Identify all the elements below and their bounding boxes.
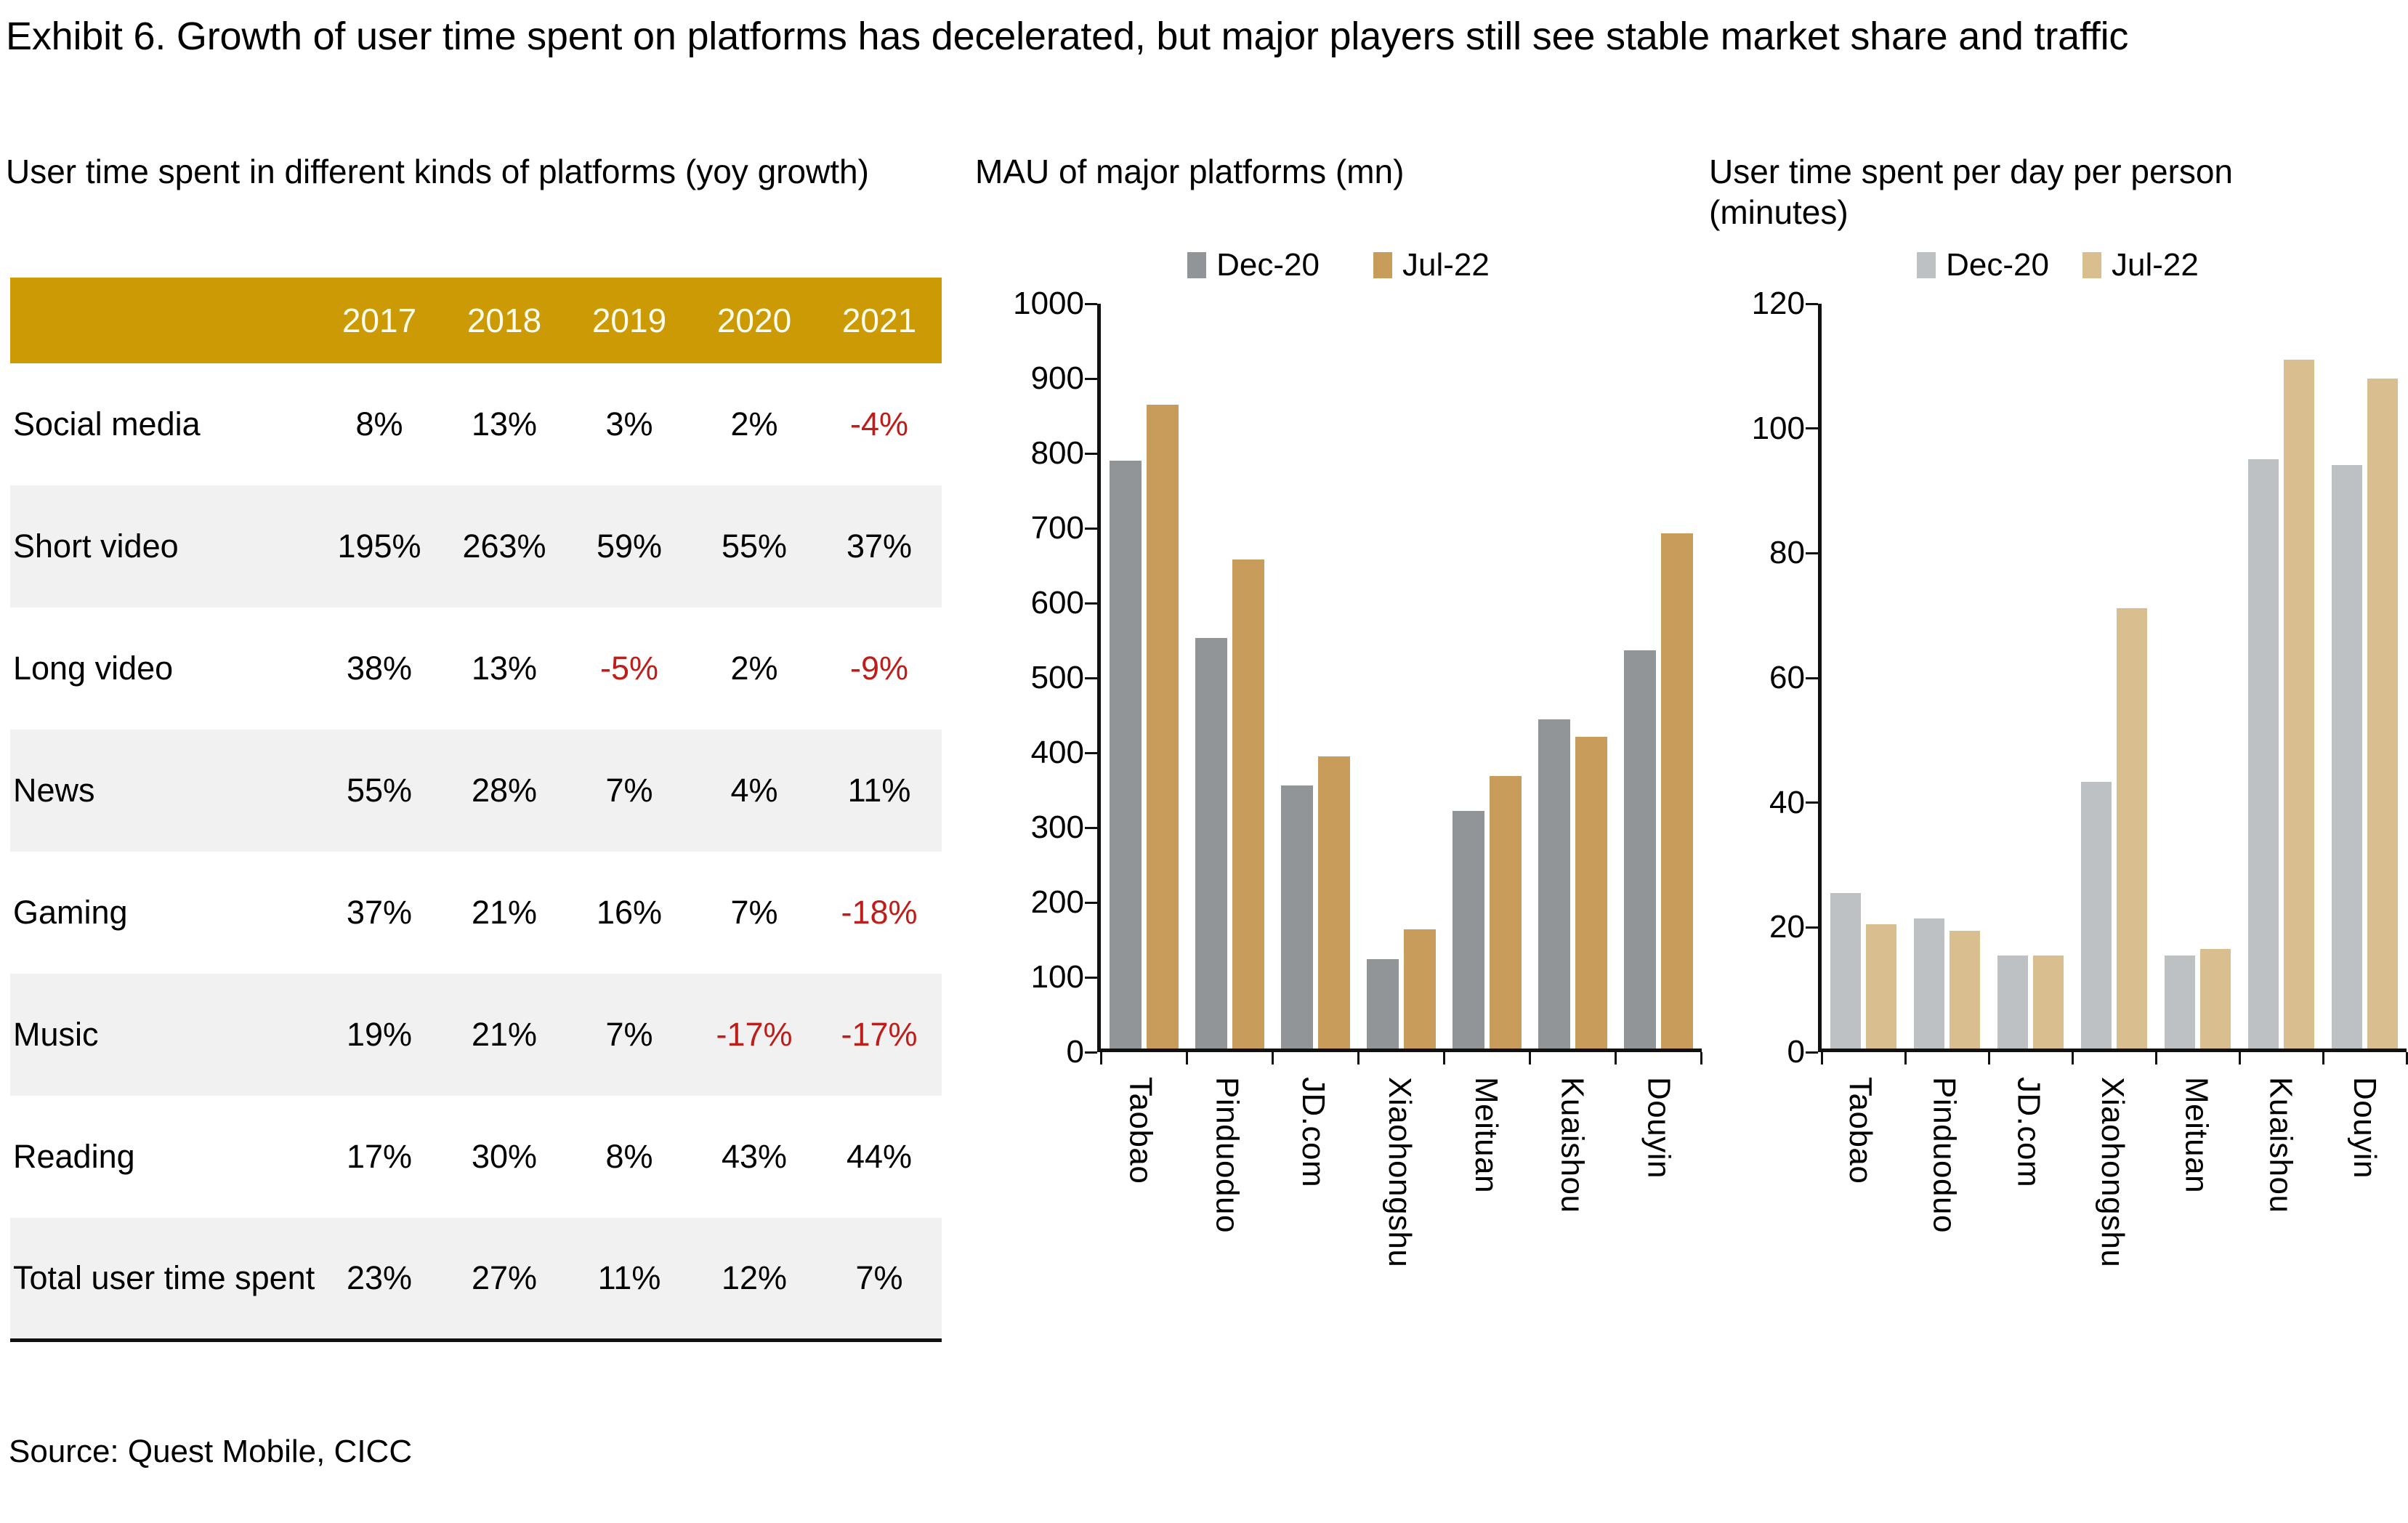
row-value-2021: -9% — [817, 607, 942, 730]
mau-bar-dec-20 — [1281, 785, 1313, 1049]
row-value-2021: 7% — [817, 1218, 942, 1340]
row-value-2019: -5% — [567, 607, 692, 730]
time-x-label-cell: Kuaishou — [2239, 1052, 2323, 1357]
mau-plot-row: 01002003004005006007008009001000 — [975, 304, 1702, 1052]
time-legend-item-jul22: Jul-22 — [2082, 247, 2199, 283]
negative-value: -17% — [716, 1016, 792, 1053]
mau-x-label-cell: Pinduoduo — [1184, 1052, 1270, 1357]
growth-table-body: Social media8%13%3%2%-4%Short video195%2… — [10, 363, 942, 1340]
row-value-2019: 59% — [567, 485, 692, 607]
mau-x-label-cell: Xiaohongshu — [1357, 1052, 1443, 1357]
time-bar-dec-20 — [2165, 956, 2195, 1049]
row-value-2018: 13% — [442, 607, 567, 730]
row-value-2019: 3% — [567, 363, 692, 485]
mau-y-tick-label: 0 — [1067, 1034, 1084, 1070]
mau-bar-jul-22 — [1147, 405, 1179, 1049]
row-value-2017: 19% — [317, 974, 442, 1096]
row-value-2020: 2% — [692, 607, 817, 730]
mau-x-tick — [1700, 1052, 1702, 1065]
mau-bar-dec-20 — [1453, 811, 1484, 1049]
time-x-label: Pinduoduo — [1926, 1077, 1963, 1233]
time-y-tick-label: 40 — [1769, 785, 1805, 821]
time-bar-dec-20 — [1997, 956, 2028, 1049]
row-label: Total user time spent — [10, 1218, 317, 1340]
time-y-tick-mark — [1806, 552, 1818, 554]
mau-bar-jul-22 — [1575, 737, 1607, 1049]
time-y-tick-mark — [1806, 801, 1818, 804]
mau-bar-group — [1272, 304, 1358, 1049]
negative-value: -5% — [600, 650, 658, 687]
mau-y-tick-label: 100 — [1031, 959, 1084, 995]
time-y-tick-mark — [1806, 926, 1818, 929]
time-x-label: Xiaohongshu — [2094, 1077, 2130, 1267]
time-x-tick — [1988, 1052, 1990, 1065]
time-x-tick — [2155, 1052, 2157, 1065]
mau-x-label: Meituan — [1468, 1077, 1504, 1193]
negative-value: -17% — [841, 1016, 917, 1053]
square-swatch-icon — [1373, 252, 1392, 278]
row-value-2020: 43% — [692, 1096, 817, 1218]
table-row: Social media8%13%3%2%-4% — [10, 363, 942, 485]
mau-legend-item-dec20: Dec-20 — [1187, 247, 1320, 283]
time-bar-jul-22 — [1950, 931, 1980, 1049]
exhibit-title: Exhibit 6. Growth of user time spent on … — [6, 13, 2251, 60]
mau-chart-panel: Dec-20 Jul-22 01002003004005006007008009… — [975, 240, 1702, 1388]
row-value-2021: -18% — [817, 852, 942, 974]
time-plot-area — [1818, 304, 2407, 1052]
row-label: Social media — [10, 363, 317, 485]
mau-legend-item-jul22: Jul-22 — [1373, 247, 1490, 283]
table-header-row: 2017 2018 2019 2020 2021 — [10, 278, 942, 363]
time-chart-panel: Dec-20 Jul-22 020406080100120 TaobaoPind… — [1709, 240, 2407, 1388]
row-value-2017: 38% — [317, 607, 442, 730]
exhibit-page: Exhibit 6. Growth of user time spent on … — [0, 0, 2408, 1523]
mau-y-tick-label: 400 — [1031, 735, 1084, 771]
mau-y-tick-mark — [1085, 303, 1097, 305]
table-row: News55%28%7%4%11% — [10, 730, 942, 852]
square-swatch-icon — [1917, 252, 1936, 278]
mau-y-tick-mark — [1085, 752, 1097, 754]
mau-x-tick — [1357, 1052, 1359, 1065]
header-cell-2018: 2018 — [442, 278, 567, 363]
mau-bar-group-container — [1101, 304, 1702, 1049]
mau-y-axis: 01002003004005006007008009001000 — [975, 304, 1097, 1052]
time-chart-heading: User time spent per day per person (minu… — [1709, 151, 2290, 233]
table-row: Gaming37%21%16%7%-18% — [10, 852, 942, 974]
mau-x-tick — [1529, 1052, 1531, 1065]
row-value-2021: -4% — [817, 363, 942, 485]
row-value-2019: 8% — [567, 1096, 692, 1218]
time-x-tick — [2322, 1052, 2324, 1065]
time-plot-row: 020406080100120 — [1709, 304, 2407, 1052]
time-legend: Dec-20 Jul-22 — [1709, 240, 2407, 291]
negative-value: -18% — [841, 894, 917, 931]
time-legend-label-jul22: Jul-22 — [2112, 247, 2199, 283]
negative-value: -4% — [850, 405, 908, 443]
mau-bar-group — [1616, 304, 1702, 1049]
time-x-axis-labels: TaobaoPinduoduoJD.comXiaohongshuMeituanK… — [1818, 1052, 2407, 1357]
time-y-tick-label: 60 — [1769, 660, 1805, 696]
time-bar-dec-20 — [2081, 782, 2112, 1049]
mau-y-tick-label: 700 — [1031, 510, 1084, 546]
row-value-2020: 2% — [692, 363, 817, 485]
mau-x-tick — [1100, 1052, 1102, 1065]
table-panel-heading: User time spent in different kinds of pl… — [6, 151, 907, 192]
time-bar-group — [1989, 304, 2072, 1049]
mau-bar-jul-22 — [1318, 756, 1350, 1049]
time-x-label-cell: Pinduoduo — [1902, 1052, 1987, 1357]
mau-bar-group — [1358, 304, 1444, 1049]
time-x-label-cell: Xiaohongshu — [2070, 1052, 2154, 1357]
row-value-2017: 8% — [317, 363, 442, 485]
mau-x-label-cell: JD.com — [1270, 1052, 1357, 1357]
table-row: Long video38%13%-5%2%-9% — [10, 607, 942, 730]
row-value-2020: 55% — [692, 485, 817, 607]
time-x-label-cell: Meituan — [2154, 1052, 2239, 1357]
time-y-tick-mark — [1806, 1051, 1818, 1054]
mau-y-tick-mark — [1085, 977, 1097, 979]
mau-x-label: Taobao — [1122, 1077, 1158, 1184]
row-value-2020: 4% — [692, 730, 817, 852]
time-bar-group — [2072, 304, 2156, 1049]
mau-y-tick-mark — [1085, 902, 1097, 904]
time-bar-group — [2156, 304, 2239, 1049]
row-value-2018: 21% — [442, 852, 567, 974]
time-y-axis: 020406080100120 — [1709, 304, 1818, 1052]
row-value-2017: 195% — [317, 485, 442, 607]
row-value-2018: 27% — [442, 1218, 567, 1340]
square-swatch-icon — [1187, 252, 1206, 278]
time-legend-label-dec20: Dec-20 — [1946, 247, 2049, 283]
header-cell-2020: 2020 — [692, 278, 817, 363]
time-x-label: Douyin — [2346, 1077, 2383, 1179]
row-value-2020: 7% — [692, 852, 817, 974]
table-row: Reading17%30%8%43%44% — [10, 1096, 942, 1218]
time-x-tick — [2239, 1052, 2241, 1065]
mau-plot-area — [1097, 304, 1702, 1052]
table-row: Music19%21%7%-17%-17% — [10, 974, 942, 1096]
mau-x-label: JD.com — [1295, 1077, 1331, 1187]
table-row: Total user time spent23%27%11%12%7% — [10, 1218, 942, 1340]
time-bar-group — [1905, 304, 1989, 1049]
time-bar-group — [1822, 304, 1905, 1049]
mau-x-label: Kuaishou — [1554, 1077, 1591, 1213]
time-bar-group — [2323, 304, 2407, 1049]
mau-x-label-cell: Kuaishou — [1529, 1052, 1615, 1357]
time-bar-dec-20 — [1914, 918, 1944, 1049]
table-row: Short video195%263%59%55%37% — [10, 485, 942, 607]
time-bar-jul-22 — [1866, 924, 1896, 1049]
mau-bar-dec-20 — [1624, 650, 1656, 1049]
time-bar-dec-20 — [2248, 459, 2279, 1049]
mau-y-tick-mark — [1085, 602, 1097, 605]
row-value-2019: 16% — [567, 852, 692, 974]
mau-x-label: Douyin — [1641, 1077, 1677, 1179]
row-value-2019: 7% — [567, 974, 692, 1096]
growth-table-head: 2017 2018 2019 2020 2021 — [10, 278, 942, 363]
mau-legend: Dec-20 Jul-22 — [975, 240, 1702, 291]
mau-bar-group — [1101, 304, 1187, 1049]
mau-bar-jul-22 — [1404, 929, 1436, 1049]
mau-y-tick-mark — [1085, 827, 1097, 829]
row-value-2021: 37% — [817, 485, 942, 607]
growth-table-wrapper: 2017 2018 2019 2020 2021 Social media8%1… — [10, 278, 942, 1342]
mau-y-tick-label: 500 — [1031, 660, 1084, 696]
mau-x-label-cell: Meituan — [1442, 1052, 1529, 1357]
time-bar-dec-20 — [1830, 893, 1861, 1049]
mau-y-tick-label: 1000 — [1013, 286, 1084, 322]
row-label: Music — [10, 974, 317, 1096]
mau-x-tick — [1615, 1052, 1617, 1065]
time-x-tick — [2072, 1052, 2074, 1065]
mau-bar-jul-22 — [1490, 776, 1522, 1049]
mau-x-label: Pinduoduo — [1208, 1077, 1245, 1233]
time-x-label: Meituan — [2178, 1077, 2215, 1193]
mau-x-tick — [1443, 1052, 1445, 1065]
row-value-2018: 21% — [442, 974, 567, 1096]
time-x-label-cell: JD.com — [1986, 1052, 2070, 1357]
time-bar-group — [2239, 304, 2323, 1049]
mau-bar-group — [1530, 304, 1616, 1049]
mau-chart-heading: MAU of major platforms (mn) — [975, 151, 1687, 192]
mau-y-tick-mark — [1085, 453, 1097, 455]
row-value-2019: 11% — [567, 1218, 692, 1340]
mau-y-tick-mark — [1085, 528, 1097, 530]
time-x-label: Taobao — [1842, 1077, 1878, 1184]
row-label: Gaming — [10, 852, 317, 974]
time-x-tick — [2406, 1052, 2408, 1065]
time-y-tick-label: 20 — [1769, 909, 1805, 945]
time-y-tick-label: 120 — [1752, 286, 1805, 322]
row-value-2019: 7% — [567, 730, 692, 852]
mau-bar-group — [1187, 304, 1272, 1049]
mau-legend-label-jul22: Jul-22 — [1402, 247, 1490, 283]
time-bar-jul-22 — [2367, 379, 2398, 1049]
row-label: Long video — [10, 607, 317, 730]
time-x-tick — [1904, 1052, 1907, 1065]
mau-bar-dec-20 — [1195, 638, 1227, 1049]
row-value-2017: 17% — [317, 1096, 442, 1218]
row-value-2021: -17% — [817, 974, 942, 1096]
mau-y-tick-label: 300 — [1031, 809, 1084, 846]
mau-x-tick — [1272, 1052, 1274, 1065]
time-bar-jul-22 — [2200, 949, 2231, 1049]
row-value-2018: 263% — [442, 485, 567, 607]
row-value-2017: 37% — [317, 852, 442, 974]
header-cell-2021: 2021 — [817, 278, 942, 363]
time-bar-jul-22 — [2284, 360, 2314, 1049]
header-cell-label — [10, 278, 317, 363]
row-value-2021: 11% — [817, 730, 942, 852]
mau-bar-group — [1445, 304, 1530, 1049]
mau-x-label: Xiaohongshu — [1381, 1077, 1418, 1267]
time-legend-item-dec20: Dec-20 — [1917, 247, 2049, 283]
header-cell-2019: 2019 — [567, 278, 692, 363]
time-x-label-cell: Taobao — [1818, 1052, 1902, 1357]
time-bar-jul-22 — [2033, 956, 2064, 1049]
time-y-tick-mark — [1806, 303, 1818, 305]
mau-y-tick-label: 600 — [1031, 585, 1084, 621]
mau-legend-label-dec20: Dec-20 — [1216, 247, 1320, 283]
square-swatch-icon — [2082, 252, 2101, 278]
time-x-tick — [1821, 1052, 1823, 1065]
time-y-tick-label: 100 — [1752, 411, 1805, 447]
time-bar-dec-20 — [2332, 465, 2362, 1049]
row-value-2021: 44% — [817, 1096, 942, 1218]
time-x-label-cell: Douyin — [2322, 1052, 2407, 1357]
time-y-tick-mark — [1806, 427, 1818, 429]
mau-bar-dec-20 — [1110, 461, 1142, 1049]
mau-y-tick-label: 200 — [1031, 884, 1084, 921]
mau-y-tick-mark — [1085, 1051, 1097, 1054]
mau-y-tick-mark — [1085, 378, 1097, 380]
row-value-2020: 12% — [692, 1218, 817, 1340]
mau-bar-jul-22 — [1232, 559, 1264, 1049]
mau-x-label-cell: Taobao — [1097, 1052, 1184, 1357]
mau-bar-dec-20 — [1538, 719, 1570, 1049]
source-note: Source: Quest Mobile, CICC — [9, 1434, 412, 1470]
mau-x-axis-labels: TaobaoPinduoduoJD.comXiaohongshuMeituanK… — [1097, 1052, 1702, 1357]
row-label: Reading — [10, 1096, 317, 1218]
negative-value: -9% — [850, 650, 908, 687]
mau-x-tick — [1186, 1052, 1188, 1065]
row-label: News — [10, 730, 317, 852]
mau-bar-dec-20 — [1367, 959, 1399, 1049]
time-bar-jul-22 — [2117, 608, 2147, 1049]
mau-y-tick-mark — [1085, 677, 1097, 679]
row-value-2018: 28% — [442, 730, 567, 852]
row-value-2018: 30% — [442, 1096, 567, 1218]
row-label: Short video — [10, 485, 317, 607]
time-y-tick-label: 80 — [1769, 535, 1805, 571]
row-value-2018: 13% — [442, 363, 567, 485]
row-value-2017: 55% — [317, 730, 442, 852]
time-y-tick-mark — [1806, 677, 1818, 679]
mau-x-label-cell: Douyin — [1615, 1052, 1702, 1357]
mau-y-tick-label: 800 — [1031, 435, 1084, 472]
time-x-label: JD.com — [2010, 1077, 2046, 1187]
mau-bar-jul-22 — [1661, 533, 1693, 1049]
mau-y-tick-label: 900 — [1031, 360, 1084, 397]
time-bar-group-container — [1822, 304, 2407, 1049]
row-value-2020: -17% — [692, 974, 817, 1096]
row-value-2017: 23% — [317, 1218, 442, 1340]
time-y-tick-label: 0 — [1787, 1034, 1805, 1070]
header-cell-2017: 2017 — [317, 278, 442, 363]
growth-table: 2017 2018 2019 2020 2021 Social media8%1… — [10, 278, 942, 1342]
time-x-label: Kuaishou — [2262, 1077, 2298, 1213]
